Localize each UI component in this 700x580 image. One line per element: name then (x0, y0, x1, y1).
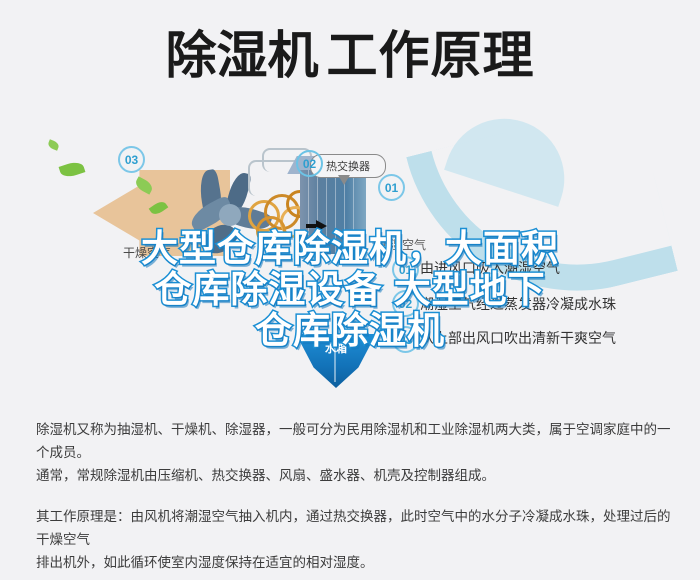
legend-text-03: 从上部出风口吹出清新干爽空气 (420, 328, 616, 348)
legend-text-01: 由进风口吸入潮湿空气 (420, 258, 560, 278)
water-tank-label: 水箱 (296, 340, 376, 356)
page-title: 除湿机工作原理 (165, 30, 534, 81)
leaf-icon (59, 160, 86, 180)
flow-arrow-head-icon (316, 220, 327, 232)
dry-air-label: 干燥空气 (123, 244, 171, 261)
paragraph-1-line-2: 通常，常规除湿机由压缩机、热交换器、风扇、盛水器、机壳及控制器组成。 (36, 468, 495, 483)
page-title-part1: 除湿机 (165, 27, 318, 84)
legend-text-02: 潮湿空气经过蒸发器冷凝成水珠 (420, 294, 616, 314)
paragraph-2: 其工作原理是：由风机将潮湿空气抽入机内，通过热交换器，此时空气中的水分子冷凝成水… (36, 505, 672, 574)
callout-pointer-icon (338, 175, 350, 185)
paragraph-2-line-1: 其工作原理是：由风机将潮湿空气抽入机内，通过热交换器，此时空气中的水分子冷凝成水… (36, 509, 671, 547)
page-root: 除湿机工作原理 (0, 0, 700, 566)
paragraph-2-line-2: 排出机外，如此循环使室内湿度保持在适宜的相对湿度。 (36, 555, 374, 570)
coil-loop (256, 216, 286, 246)
legend-marker-01: 01 (392, 256, 419, 283)
marker-02-heat-exchanger: 02 (296, 150, 323, 177)
paragraph-1-line-1: 除湿机又称为抽湿机、干燥机、除湿器，一般可分为民用除湿机和工业除湿机两大类，属于… (36, 422, 671, 460)
working-principle-diagram: 热交换器 水箱 03 02 01 干燥空气 潮湿空气 01 02 03 由进风口… (0, 108, 700, 408)
legend-marker-03: 03 (392, 326, 419, 353)
humid-air-label: 潮湿空气 (378, 236, 426, 253)
leaf-icon (47, 139, 60, 151)
header-banner: 除湿机工作原理 (0, 0, 700, 110)
marker-03-dry-air: 03 (118, 146, 145, 173)
body-copy: 除湿机又称为抽湿机、干燥机、除湿器，一般可分为民用除湿机和工业除湿机两大类，属于… (36, 418, 672, 580)
evaporator-fins (300, 170, 366, 254)
fan-hub (219, 204, 241, 226)
paragraph-spacer (36, 493, 672, 505)
heat-exchanger-callout-label: 热交换器 (326, 158, 370, 174)
paragraph-1: 除湿机又称为抽湿机、干燥机、除湿器，一般可分为民用除湿机和工业除湿机两大类，属于… (36, 418, 672, 487)
page-title-part2: 工作原理 (327, 27, 535, 84)
legend-marker-02: 02 (392, 290, 419, 317)
marker-01-humid-air: 01 (378, 174, 405, 201)
